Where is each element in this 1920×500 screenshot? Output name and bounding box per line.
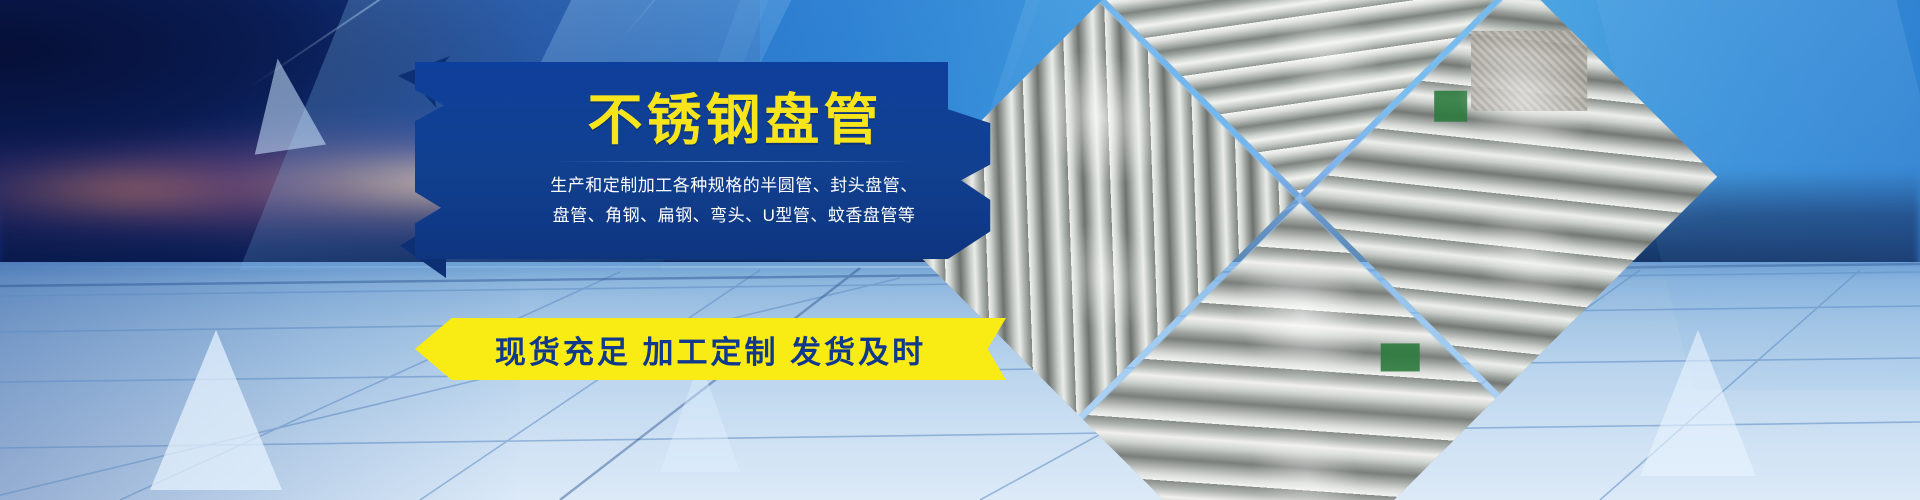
title-divider bbox=[554, 161, 914, 162]
highlight-bar-text: 现货充足 加工定制 发货及时 bbox=[469, 327, 926, 372]
subtitle-line-1: 生产和定制加工各种规格的半圆管、封头盘管、 bbox=[550, 171, 918, 201]
promo-banner: 不锈钢盘管 生产和定制加工各种规格的半圆管、封头盘管、 盘管、角钢、扁钢、弯头、… bbox=[0, 0, 1920, 500]
page-title: 不锈钢盘管 bbox=[587, 92, 882, 150]
subtitle-line-2: 盘管、角钢、扁钢、弯头、U型管、蚊香盘管等 bbox=[553, 201, 916, 231]
pavement-tile-lines bbox=[0, 262, 1920, 500]
highlight-bar: 现货充足 加工定制 发货及时 bbox=[415, 318, 980, 380]
